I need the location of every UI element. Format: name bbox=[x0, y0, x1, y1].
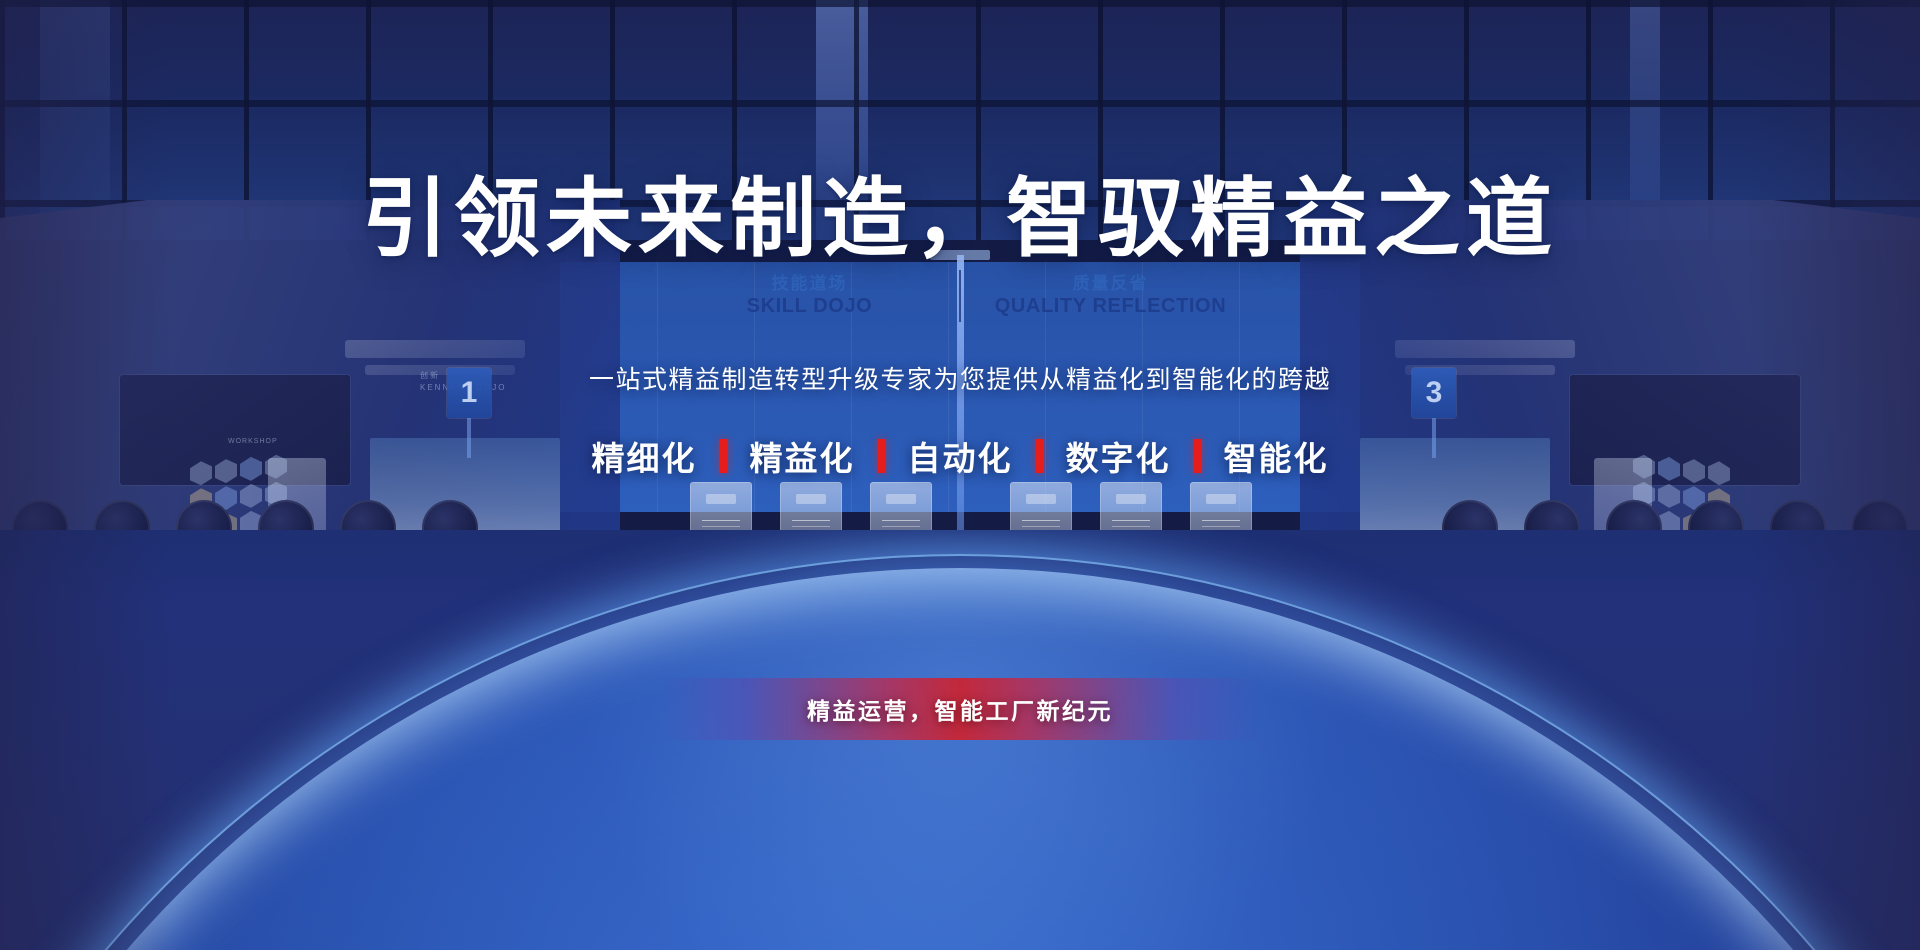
cloud-layer bbox=[0, 568, 1920, 950]
signage-block-skill-dojo: 技能道场 SKILL DOJO bbox=[660, 273, 959, 319]
keyword-separator-icon bbox=[1193, 439, 1202, 473]
hero-headline: 引领未来制造，智驭精益之道 bbox=[0, 148, 1920, 273]
hero-subline: 一站式精益制造转型升级专家为您提供从精益化到智能化的跨越 bbox=[0, 360, 1920, 396]
keyword-separator-icon bbox=[719, 439, 728, 473]
signage-cn-quality-reflection: 质量反省 bbox=[961, 273, 1260, 294]
keyword-item: 数字化 bbox=[1066, 432, 1171, 480]
signage-en-quality-reflection: QUALITY REFLECTION bbox=[961, 294, 1260, 319]
keyword-item: 智能化 bbox=[1224, 432, 1329, 480]
signage-cn-skill-dojo: 技能道场 bbox=[660, 273, 959, 294]
tagline-ribbon: 精益运营，智能工厂新纪元 bbox=[660, 678, 1260, 740]
keyword-item: 精细化 bbox=[592, 432, 697, 480]
signage-en-skill-dojo: SKILL DOJO bbox=[660, 294, 959, 319]
keyword-item: 精益化 bbox=[750, 432, 855, 480]
overhead-signage: 技能道场 SKILL DOJO 质量反省 QUALITY REFLECTION bbox=[660, 268, 1260, 324]
keyword-item: 自动化 bbox=[908, 432, 1013, 480]
signage-block-quality-reflection: 质量反省 QUALITY REFLECTION bbox=[961, 273, 1260, 319]
keyword-separator-icon bbox=[1035, 439, 1044, 473]
hero-banner: ENTERPRISE COURSE REFORM THE WORLD SEE A… bbox=[0, 0, 1920, 950]
tagline-text: 精益运营，智能工厂新纪元 bbox=[807, 692, 1113, 726]
keyword-separator-icon bbox=[877, 439, 886, 473]
earth-globe bbox=[0, 568, 1920, 950]
earth-globe-section bbox=[0, 530, 1920, 950]
keyword-row: 精细化 精益化 自动化 数字化 智能化 bbox=[0, 432, 1920, 480]
